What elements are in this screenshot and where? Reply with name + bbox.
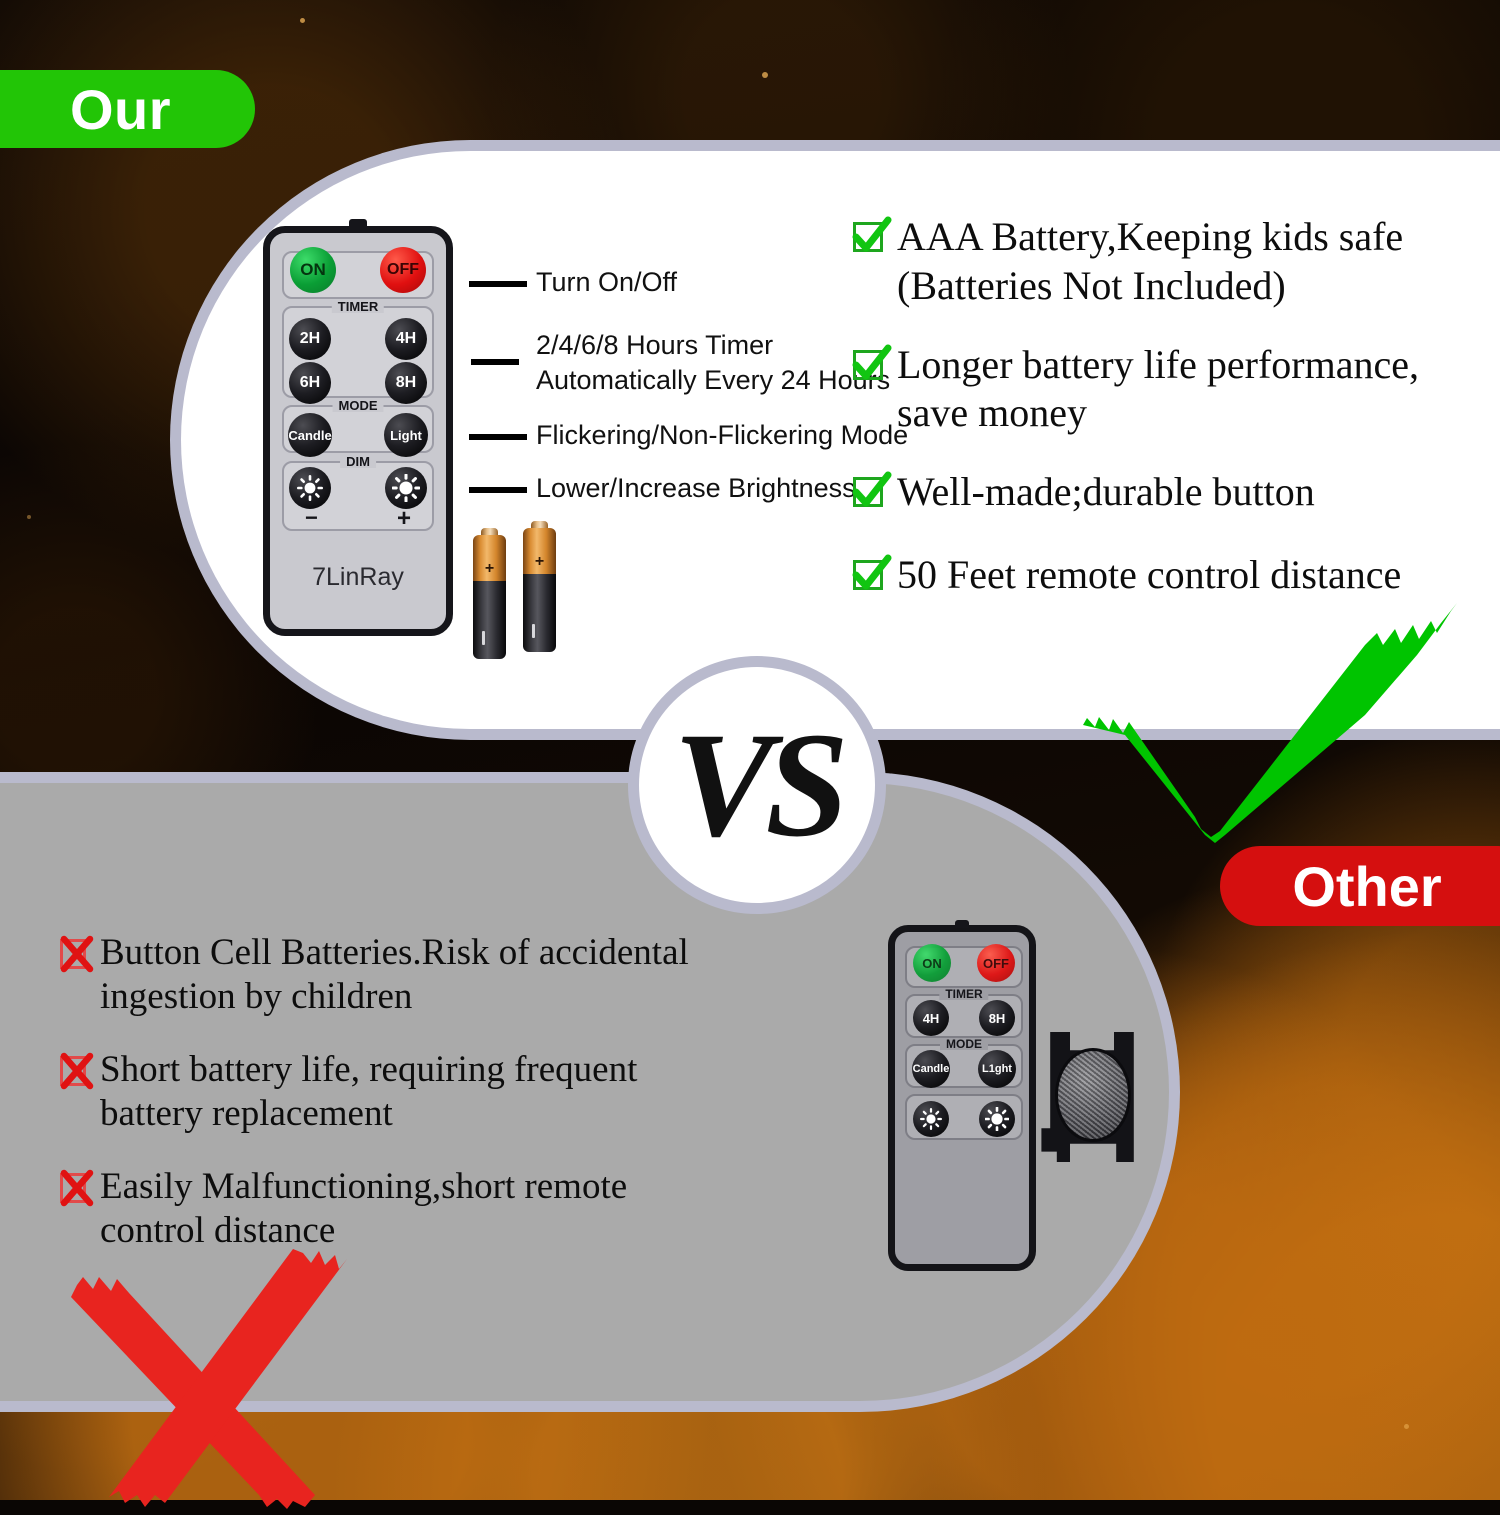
other-badge: Other [1220,846,1500,926]
timer-group-label: TIMER [939,988,988,1000]
con-text: Short battery life, requiring frequent b… [100,1048,637,1137]
timer-8h-button[interactable]: 8H [979,1000,1015,1036]
callout-timer: 2/4/6/8 Hours Timer Automatically Every … [536,328,890,397]
con-item: Short battery life, requiring frequent b… [60,1048,820,1137]
con-item: Easily Malfunctioning,short remote contr… [60,1165,820,1254]
mode-group-label: MODE [940,1038,988,1050]
other-badge-label: Other [1292,854,1441,919]
battery-tick [532,624,535,638]
cross-icon [60,1173,86,1203]
callout-leader-line [469,487,527,493]
off-button[interactable]: OFF [380,247,426,293]
remote-ir-nub [955,920,969,928]
sun-icon [920,1108,942,1130]
pro-item: AAA Battery,Keeping kids safe (Batteries… [853,213,1493,311]
timer-6h-button[interactable]: 6H [289,362,331,404]
callout-turn-on-off: Turn On/Off [536,265,677,300]
battery-tick [482,631,485,645]
on-button[interactable]: ON [290,247,336,293]
check-icon [853,350,883,380]
sun-icon [985,1107,1009,1131]
pro-item: Well-made;durable button [853,468,1493,517]
mode-group-label: MODE [333,399,384,412]
timer-button-group: TIMER 4H 8H [905,994,1023,1038]
battery-plus-sign: + [523,554,556,570]
remote-ir-nub [349,219,367,228]
dim-down-button[interactable] [289,467,331,509]
callout-leader-line [469,281,527,287]
battery-body [473,581,506,659]
red-x-brushstroke [55,1245,385,1510]
dim-plus-label: + [397,505,411,533]
cons-list: Button Cell Batteries.Risk of accidental… [60,931,820,1253]
power-button-group: ON OFF [282,251,434,299]
mode-light-button[interactable]: Light [384,413,428,457]
bokeh-spark [1404,1424,1409,1429]
check-icon [853,560,883,590]
timer-button-group: TIMER 2H 4H 6H 8H [282,306,434,398]
check-icon [853,222,883,252]
pros-list: AAA Battery,Keeping kids safe (Batteries… [853,213,1493,600]
mode-candle-button[interactable]: Candle [912,1050,950,1088]
vs-label: VS [673,699,840,871]
mode-button-group: MODE Candle L1ght [905,1044,1023,1088]
timer-8h-button[interactable]: 8H [385,362,427,404]
bokeh-spark [27,515,31,519]
timer-2h-button[interactable]: 2H [289,318,331,360]
mode-light-button[interactable]: L1ght [978,1050,1016,1088]
sun-icon [392,474,420,502]
vs-circle: VS [628,656,886,914]
other-remote-control: ON OFF TIMER 4H 8H MODE Candle L1ght [888,925,1036,1271]
mode-candle-button[interactable]: Candle [288,413,332,457]
callout-brightness: Lower/Increase Brightness [536,471,856,506]
pro-text: AAA Battery,Keeping kids safe (Batteries… [897,213,1403,311]
sun-icon [297,475,323,501]
battery-body [523,574,556,652]
timer-4h-button[interactable]: 4H [385,318,427,360]
pro-text: Longer battery life performance, save mo… [897,341,1419,439]
green-check-brushstroke [1065,585,1465,845]
con-text: Button Cell Batteries.Risk of accidental… [100,931,689,1020]
dim-button-group: DIM [282,461,434,531]
bokeh-spark [300,18,305,23]
con-item: Button Cell Batteries.Risk of accidental… [60,931,820,1020]
dim-group-label: DIM [340,455,376,468]
con-text: Easily Malfunctioning,short remote contr… [100,1165,627,1254]
coin-cell [1055,1048,1131,1142]
dim-up-button[interactable] [385,467,427,509]
pro-text: Well-made;durable button [897,468,1315,517]
bokeh-spark [762,72,768,78]
cross-icon [60,1056,86,1086]
callout-leader-line [471,359,519,365]
callout-leader-line [469,434,527,440]
timer-4h-button[interactable]: 4H [913,1000,949,1036]
off-button[interactable]: OFF [977,944,1015,982]
battery-plus-sign: + [473,561,506,577]
remote-brand-label: 7LinRay [270,563,446,592]
our-badge: Our [0,70,255,148]
power-button-group: ON OFF [905,946,1023,988]
cross-icon [60,939,86,969]
our-badge-label: Our [70,77,171,142]
mode-button-group: MODE Candle Light [282,405,434,453]
dim-minus-label: − [305,505,318,531]
aaa-battery: + [523,528,556,652]
dim-down-button[interactable] [913,1101,949,1137]
dim-button-group [905,1094,1023,1140]
our-remote-control: ON OFF TIMER 2H 4H 6H 8H MODE Candle Lig… [263,226,453,636]
pro-item: Longer battery life performance, save mo… [853,341,1493,439]
on-button[interactable]: ON [913,944,951,982]
dim-up-button[interactable] [979,1101,1015,1137]
aaa-battery: + [473,535,506,659]
coin-cell-battery [1037,1032,1147,1162]
check-icon [853,477,883,507]
timer-group-label: TIMER [332,300,384,313]
